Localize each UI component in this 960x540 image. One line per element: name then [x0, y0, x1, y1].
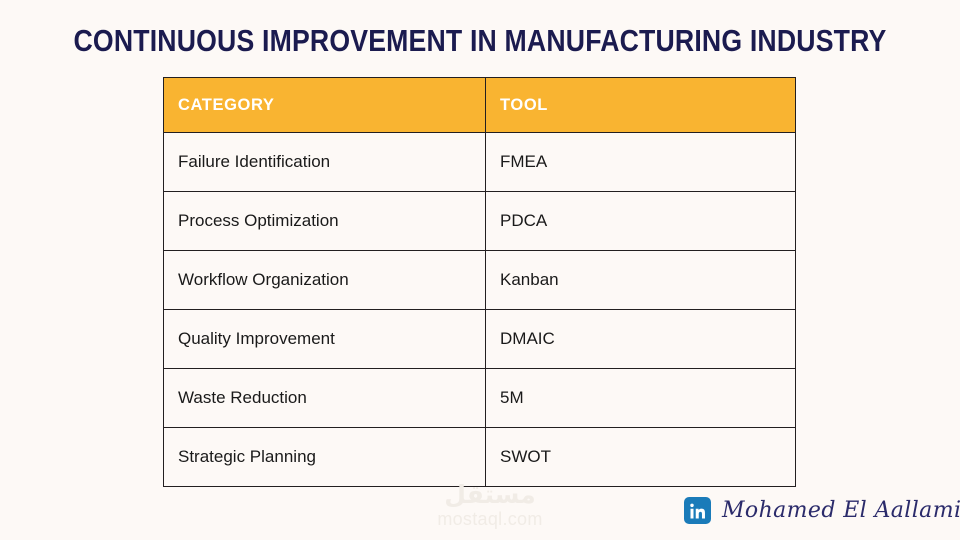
- tools-table-container: CATEGORY TOOL Failure Identification FME…: [163, 77, 795, 487]
- table-row: Quality Improvement DMAIC: [164, 310, 796, 369]
- column-header-category: CATEGORY: [164, 78, 486, 133]
- linkedin-icon[interactable]: [684, 497, 711, 524]
- cell-tool: SWOT: [486, 428, 796, 487]
- cell-tool: PDCA: [486, 192, 796, 251]
- author-signature: Mohamed El Aallami: [684, 497, 960, 524]
- author-name: Mohamed El Aallami: [722, 498, 960, 524]
- table-row: Failure Identification FMEA: [164, 133, 796, 192]
- table-header: CATEGORY TOOL: [164, 78, 796, 133]
- column-header-tool: TOOL: [486, 78, 796, 133]
- cell-tool: Kanban: [486, 251, 796, 310]
- table-row: Waste Reduction 5M: [164, 369, 796, 428]
- tools-table: CATEGORY TOOL Failure Identification FME…: [163, 77, 796, 487]
- table-body: Failure Identification FMEA Process Opti…: [164, 133, 796, 487]
- table-row: Strategic Planning SWOT: [164, 428, 796, 487]
- cell-category: Quality Improvement: [164, 310, 486, 369]
- cell-category: Process Optimization: [164, 192, 486, 251]
- table-row: Process Optimization PDCA: [164, 192, 796, 251]
- cell-tool: FMEA: [486, 133, 796, 192]
- table-header-row: CATEGORY TOOL: [164, 78, 796, 133]
- slide-canvas: CONTINUOUS IMPROVEMENT IN MANUFACTURING …: [0, 0, 960, 540]
- watermark: مستقل mostaql.com: [400, 482, 580, 530]
- cell-category: Failure Identification: [164, 133, 486, 192]
- table-row: Workflow Organization Kanban: [164, 251, 796, 310]
- cell-category: Waste Reduction: [164, 369, 486, 428]
- page-title: CONTINUOUS IMPROVEMENT IN MANUFACTURING …: [67, 22, 893, 60]
- watermark-latin-text: mostaql.com: [400, 508, 580, 530]
- cell-tool: 5M: [486, 369, 796, 428]
- cell-category: Workflow Organization: [164, 251, 486, 310]
- cell-tool: DMAIC: [486, 310, 796, 369]
- cell-category: Strategic Planning: [164, 428, 486, 487]
